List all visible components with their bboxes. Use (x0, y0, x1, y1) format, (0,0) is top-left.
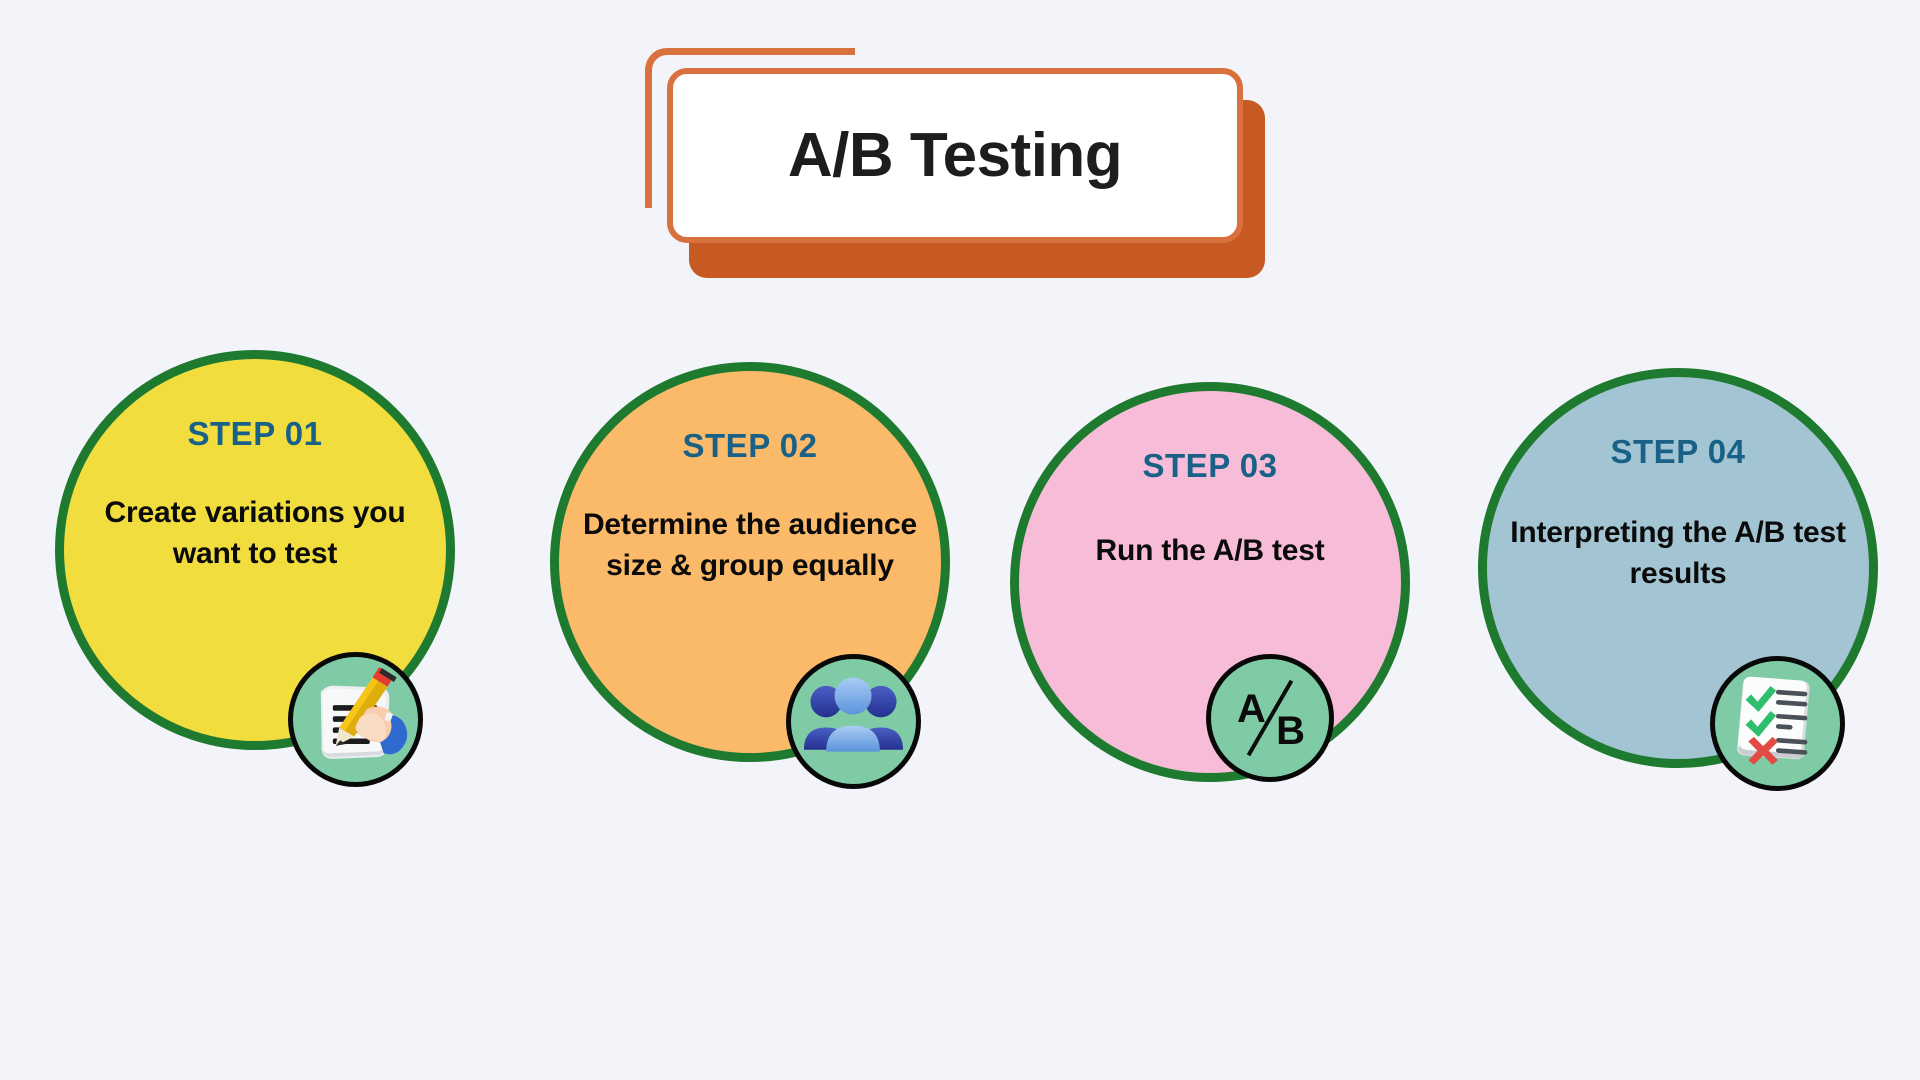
step-body-04: Interpreting the A/B test results (1508, 512, 1848, 595)
step-item-04: STEP 04 Interpreting the A/B test result… (1478, 368, 1878, 768)
step-item-03: STEP 03 Run the A/B test A B (1010, 382, 1410, 782)
step-label-01: STEP 01 (188, 417, 323, 450)
step-label-02: STEP 02 (683, 429, 818, 462)
checklist-results-icon (1710, 656, 1845, 791)
ab-letter-b: B (1276, 711, 1305, 751)
title-block: A/B Testing (645, 48, 1265, 278)
step-body-01: Create variations you want to test (85, 492, 425, 575)
ab-letter-a: A (1237, 689, 1266, 729)
steps-row: STEP 01 Create variations you want to te… (0, 340, 1920, 900)
ab-split-icon: A B (1206, 654, 1334, 782)
step-label-04: STEP 04 (1611, 435, 1746, 468)
step-label-03: STEP 03 (1143, 449, 1278, 482)
step-body-02: Determine the audience size & group equa… (580, 504, 920, 587)
hand-writing-document-icon (288, 652, 423, 787)
step-item-01: STEP 01 Create variations you want to te… (55, 350, 455, 750)
page-title: A/B Testing (788, 125, 1122, 187)
step-item-02: STEP 02 Determine the audience size & gr… (550, 362, 950, 762)
title-card: A/B Testing (667, 68, 1243, 243)
group-of-people-icon (786, 654, 921, 789)
step-body-03: Run the A/B test (1040, 530, 1380, 571)
